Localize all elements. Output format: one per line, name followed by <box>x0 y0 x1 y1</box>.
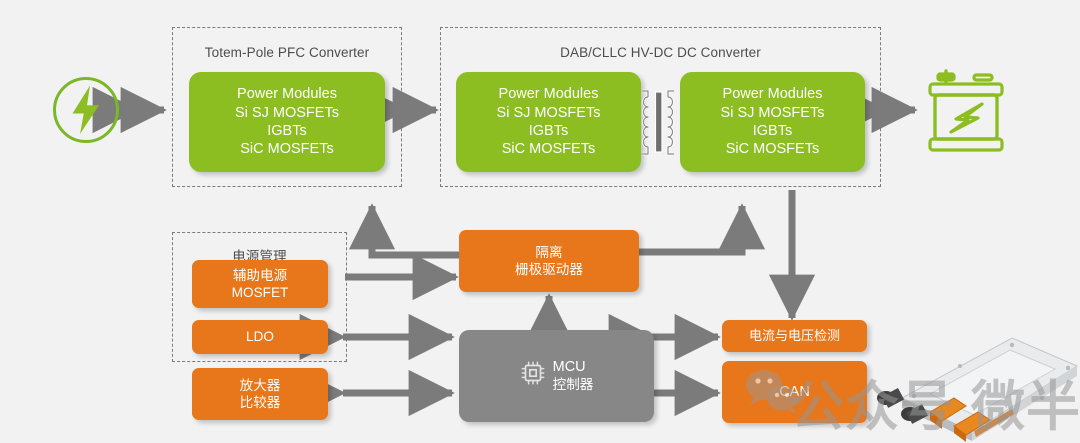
block-line: 栅极驱动器 <box>515 261 583 278</box>
group-title-dab: DAB/CLLC HV-DC DC Converter <box>441 45 880 60</box>
block-line: IGBTs <box>529 122 568 140</box>
block-line: Si SJ MOSFETs <box>235 104 339 122</box>
ac-power-bolt-icon <box>53 77 119 143</box>
group-title-pfc: Totem-Pole PFC Converter <box>173 45 401 60</box>
block-line: 辅助电源 <box>233 267 287 284</box>
block-line: 电流与电压检测 <box>749 328 840 344</box>
block-mcu-controller[interactable]: MCU 控制器 <box>459 330 654 422</box>
block-line: 比较器 <box>240 394 281 411</box>
block-current-voltage-sense[interactable]: 电流与电压检测 <box>722 320 867 352</box>
block-line: SiC MOSFETs <box>502 140 595 158</box>
block-line: Si SJ MOSFETs <box>721 104 825 122</box>
arrow-gatedriver-to-pfc <box>372 206 460 255</box>
block-aux-supply-mosfet[interactable]: 辅助电源 MOSFET <box>192 260 328 308</box>
block-can[interactable]: CAN <box>722 361 867 423</box>
obc-module-photo <box>862 336 1080 443</box>
block-pfc-power-modules[interactable]: Power Modules Si SJ MOSFETs IGBTs SiC MO… <box>189 72 385 172</box>
block-line: Power Modules <box>723 85 823 103</box>
block-line: IGBTs <box>267 122 306 140</box>
block-amplifier-comparator[interactable]: 放大器 比较器 <box>192 368 328 420</box>
mcu-chip-icon <box>520 360 546 392</box>
block-line: 放大器 <box>240 377 281 394</box>
block-line: 控制器 <box>553 377 594 393</box>
block-line: Si SJ MOSFETs <box>497 104 601 122</box>
arrow-gatedriver-to-dab <box>638 206 742 252</box>
block-line: CAN <box>779 383 810 401</box>
block-line: SiC MOSFETs <box>240 140 333 158</box>
block-ldo[interactable]: LDO <box>192 320 328 354</box>
transformer-icon <box>633 88 683 160</box>
block-line: IGBTs <box>753 122 792 140</box>
block-line: MOSFET <box>232 284 289 301</box>
block-line: LDO <box>246 328 274 345</box>
block-isolated-gate-driver[interactable]: 隔离 栅极驱动器 <box>459 230 639 292</box>
diagram-canvas: Totem-Pole PFC Converter Power Modules S… <box>0 0 1080 443</box>
block-line: 隔离 <box>535 244 562 261</box>
block-line: Power Modules <box>499 85 599 103</box>
battery-bolt-icon <box>920 62 1012 158</box>
block-dab-secondary-power-modules[interactable]: Power Modules Si SJ MOSFETs IGBTs SiC MO… <box>680 72 865 172</box>
block-line: Power Modules <box>237 85 337 103</box>
block-line: MCU <box>553 359 594 376</box>
block-line: SiC MOSFETs <box>726 140 819 158</box>
block-dab-primary-power-modules[interactable]: Power Modules Si SJ MOSFETs IGBTs SiC MO… <box>456 72 641 172</box>
